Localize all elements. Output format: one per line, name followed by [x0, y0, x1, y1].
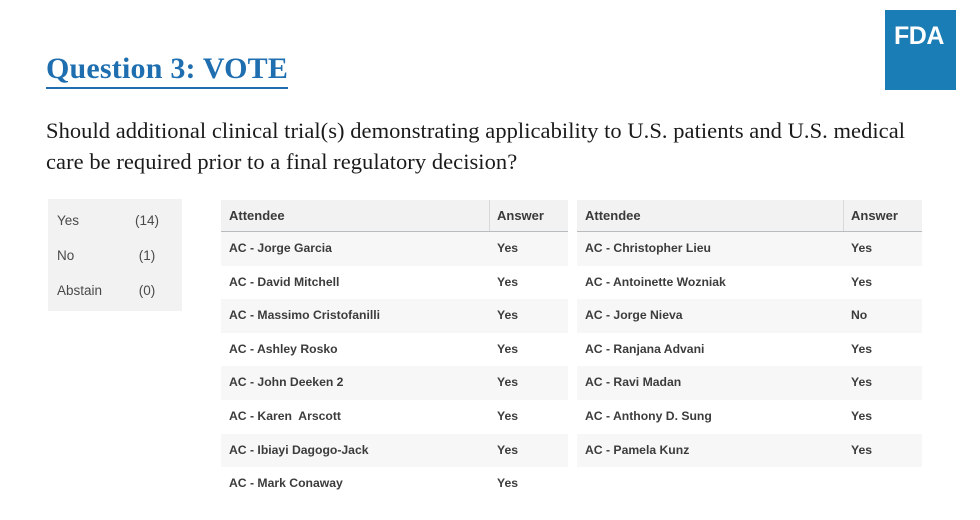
cell-attendee: AC - John Deeken 2 [229, 366, 343, 400]
column-divider [489, 200, 490, 231]
cell-answer: Yes [497, 366, 518, 400]
table-row: AC - Ravi Madan Yes [577, 366, 922, 400]
table-row: AC - Jorge Nieva No [577, 299, 922, 333]
question-text: Should additional clinical trial(s) demo… [46, 115, 936, 177]
vote-summary-box: Yes (14) No (1) Abstain (0) [48, 199, 182, 311]
vote-summary-label-abstain: Abstain [57, 283, 102, 298]
cell-attendee: AC - Anthony D. Sung [585, 400, 712, 434]
attendee-table-left: Attendee Answer AC - Jorge Garcia Yes AC… [221, 200, 568, 501]
cell-answer: Yes [851, 434, 872, 468]
table-row: AC - Karen Arscott Yes [221, 400, 568, 434]
cell-answer: Yes [497, 434, 518, 468]
table-header-row: Attendee Answer [221, 200, 568, 232]
cell-attendee: AC - Massimo Cristofanilli [229, 299, 380, 333]
cell-answer: Yes [497, 299, 518, 333]
cell-attendee: AC - David Mitchell [229, 266, 339, 300]
cell-attendee: AC - Jorge Nieva [585, 299, 683, 333]
cell-answer: Yes [851, 266, 872, 300]
table-row: AC - Ibiayi Dagogo-Jack Yes [221, 434, 568, 468]
vote-summary-row-no: No (1) [48, 244, 182, 266]
cell-answer: Yes [497, 266, 518, 300]
cell-answer: Yes [851, 232, 872, 266]
cell-attendee: AC - Christopher Lieu [585, 232, 711, 266]
cell-answer: Yes [497, 400, 518, 434]
table-row: AC - David Mitchell Yes [221, 266, 568, 300]
cell-answer: Yes [497, 232, 518, 266]
cell-answer: No [851, 299, 867, 333]
table-row: AC - Mark Conaway Yes [221, 467, 568, 501]
cell-attendee: AC - Jorge Garcia [229, 232, 332, 266]
cell-answer: Yes [851, 366, 872, 400]
cell-answer: Yes [851, 400, 872, 434]
table-row: AC - Ranjana Advani Yes [577, 333, 922, 367]
table-row: AC - Jorge Garcia Yes [221, 232, 568, 266]
cell-attendee: AC - Pamela Kunz [585, 434, 689, 468]
cell-attendee: AC - Ashley Rosko [229, 333, 338, 367]
column-header-answer: Answer [497, 200, 544, 231]
table-header-row: Attendee Answer [577, 200, 922, 232]
cell-attendee: AC - Mark Conaway [229, 467, 343, 501]
vote-summary-count-no: (1) [126, 248, 168, 263]
table-row: AC - Antoinette Wozniak Yes [577, 266, 922, 300]
table-row: AC - Massimo Cristofanilli Yes [221, 299, 568, 333]
table-row: AC - Anthony D. Sung Yes [577, 400, 922, 434]
cell-attendee: AC - Ravi Madan [585, 366, 681, 400]
attendee-table-right: Attendee Answer AC - Christopher Lieu Ye… [577, 200, 922, 467]
table-row: AC - Pamela Kunz Yes [577, 434, 922, 468]
vote-summary-label-yes: Yes [57, 213, 79, 228]
page-title: Question 3: VOTE [46, 52, 288, 89]
cell-attendee: AC - Ibiayi Dagogo-Jack [229, 434, 369, 468]
table-row: AC - Christopher Lieu Yes [577, 232, 922, 266]
cell-answer: Yes [497, 467, 518, 501]
vote-summary-label-no: No [57, 248, 74, 263]
table-row: AC - Ashley Rosko Yes [221, 333, 568, 367]
cell-attendee: AC - Ranjana Advani [585, 333, 704, 367]
cell-attendee: AC - Antoinette Wozniak [585, 266, 726, 300]
fda-logo-text: FDA [894, 24, 944, 49]
cell-answer: Yes [851, 333, 872, 367]
cell-answer: Yes [497, 333, 518, 367]
vote-summary-row-yes: Yes (14) [48, 209, 182, 231]
table-body: AC - Jorge Garcia Yes AC - David Mitchel… [221, 232, 568, 501]
vote-summary-count-yes: (14) [126, 213, 168, 228]
fda-logo: FDA [885, 10, 956, 90]
vote-summary-row-abstain: Abstain (0) [48, 279, 182, 301]
column-header-attendee: Attendee [585, 200, 641, 231]
cell-attendee: AC - Karen Arscott [229, 400, 341, 434]
vote-summary-count-abstain: (0) [126, 283, 168, 298]
table-body: AC - Christopher Lieu Yes AC - Antoinett… [577, 232, 922, 467]
table-row: AC - John Deeken 2 Yes [221, 366, 568, 400]
column-divider [843, 200, 844, 231]
column-header-attendee: Attendee [229, 200, 285, 231]
column-header-answer: Answer [851, 200, 898, 231]
